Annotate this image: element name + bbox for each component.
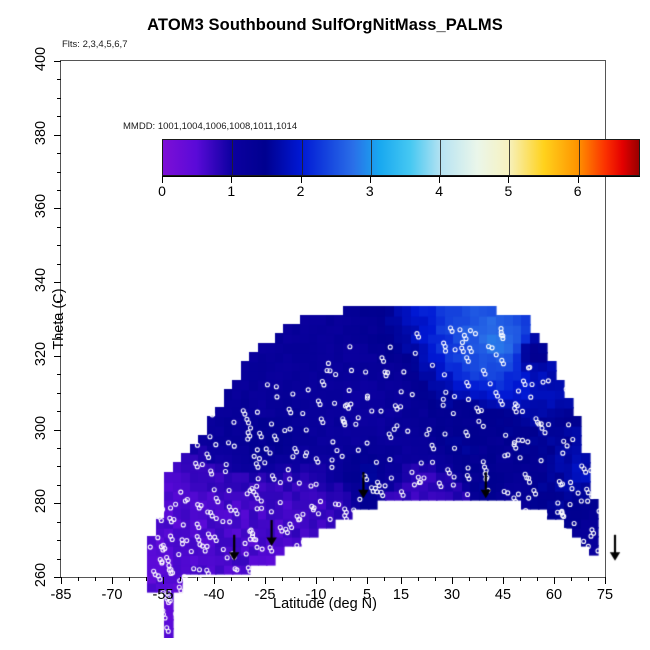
- x-axis-title: Latitude (deg N): [0, 596, 650, 612]
- colorbar-tick: [301, 176, 302, 183]
- x-axis-tick-minor: [248, 577, 249, 581]
- colorbar-separators: [163, 140, 641, 177]
- y-axis-tick-minor: [57, 301, 61, 302]
- x-axis-tick-major: [214, 577, 215, 584]
- y-axis-tick-label: 260: [33, 561, 49, 589]
- x-axis-tick-minor: [299, 577, 300, 581]
- y-axis-tick-major: [54, 208, 61, 209]
- y-axis-tick-minor: [57, 448, 61, 449]
- y-axis-tick-minor: [57, 540, 61, 541]
- x-axis-tick-major: [61, 577, 62, 584]
- y-axis-tick-minor: [57, 116, 61, 117]
- x-axis-tick-major: [554, 577, 555, 584]
- colorbar-separator: [302, 140, 303, 177]
- colorbar-tick: [231, 176, 232, 183]
- x-axis-tick-major: [316, 577, 317, 584]
- y-axis-tick-label: 380: [33, 119, 49, 147]
- y-axis-tick-label: 400: [33, 45, 49, 73]
- y-axis-tick-major: [54, 61, 61, 62]
- x-axis-tick-major: [503, 577, 504, 584]
- y-axis-tick-minor: [57, 522, 61, 523]
- mmdd-annotation: MMDD: 1001,1004,1006,1008,1011,1014: [123, 121, 297, 132]
- x-axis-tick-minor: [282, 577, 283, 581]
- x-axis-tick-minor: [384, 577, 385, 581]
- figure-root: ATOM3 Southbound SulfOrgNitMass_PALMS Fl…: [0, 0, 650, 650]
- y-axis-tick-major: [54, 430, 61, 431]
- colorbar-tick-label: 4: [435, 183, 443, 199]
- y-axis-tick-minor: [57, 374, 61, 375]
- y-axis-tick-minor: [57, 190, 61, 191]
- x-axis-tick-major: [265, 577, 266, 584]
- y-axis-tick-label: 320: [33, 340, 49, 368]
- x-axis-tick-minor: [95, 577, 96, 581]
- y-axis-tick-minor: [57, 98, 61, 99]
- colorbar-tick-label: 6: [574, 183, 582, 199]
- colorbar-tick-label: 3: [366, 183, 374, 199]
- y-axis-tick-minor: [57, 411, 61, 412]
- y-axis-tick-minor: [57, 466, 61, 467]
- x-axis-tick-major: [605, 577, 606, 584]
- colorbar-separator: [232, 140, 233, 177]
- y-axis-tick-minor: [57, 393, 61, 394]
- x-axis-tick-major: [367, 577, 368, 584]
- colorbar-tick: [508, 176, 509, 183]
- x-axis-tick-major: [452, 577, 453, 584]
- y-axis-tick-minor: [57, 319, 61, 320]
- figure-title: ATOM3 Southbound SulfOrgNitMass_PALMS: [0, 16, 650, 35]
- y-axis-tick-minor: [57, 337, 61, 338]
- colorbar-tick-label: 1: [227, 183, 235, 199]
- x-axis-tick-major: [112, 577, 113, 584]
- colorbar-tick: [370, 176, 371, 183]
- y-axis-tick-minor: [57, 485, 61, 486]
- colorbar-tick: [162, 176, 163, 183]
- x-axis-tick-minor: [350, 577, 351, 581]
- y-axis-tick-minor: [57, 559, 61, 560]
- plot-frame: MMDD: 1001,1004,1006,1008,1011,1014 0123…: [60, 60, 606, 578]
- y-axis-tick-minor: [57, 227, 61, 228]
- colorbar-group: 0123456: [162, 139, 640, 201]
- x-axis-tick-minor: [469, 577, 470, 581]
- flights-annotation: Flts: 2,3,4,5,6,7: [62, 39, 127, 50]
- y-axis-tick-label: 300: [33, 414, 49, 442]
- colorbar-tick-label: 5: [504, 183, 512, 199]
- y-axis-tick-major: [54, 356, 61, 357]
- y-axis-tick-minor: [57, 79, 61, 80]
- x-axis-tick-minor: [418, 577, 419, 581]
- y-axis-tick-label: 340: [33, 266, 49, 294]
- colorbar-separator: [371, 140, 372, 177]
- colorbar-tick: [578, 176, 579, 183]
- x-axis-tick-minor: [435, 577, 436, 581]
- y-axis-tick-major: [54, 282, 61, 283]
- y-axis-tick-minor: [57, 245, 61, 246]
- y-axis-tick-major: [54, 135, 61, 136]
- colorbar-separator: [440, 140, 441, 177]
- x-axis-tick-minor: [146, 577, 147, 581]
- y-axis-tick-label: 360: [33, 192, 49, 220]
- y-axis-tick-minor: [57, 264, 61, 265]
- x-axis-tick-minor: [520, 577, 521, 581]
- x-axis-tick-minor: [571, 577, 572, 581]
- x-axis-tick-minor: [197, 577, 198, 581]
- x-axis-tick-minor: [588, 577, 589, 581]
- colorbar-tick-label: 2: [297, 183, 305, 199]
- colorbar-separator: [509, 140, 510, 177]
- y-axis-tick-major: [54, 503, 61, 504]
- x-axis-tick-minor: [78, 577, 79, 581]
- colorbar-tick-label: 0: [158, 183, 166, 199]
- x-axis-tick-minor: [180, 577, 181, 581]
- x-axis-tick-major: [163, 577, 164, 584]
- y-axis-tick-minor: [57, 172, 61, 173]
- colorbar-tick: [439, 176, 440, 183]
- y-axis-tick-minor: [57, 153, 61, 154]
- colorbar-gradient: [162, 139, 640, 176]
- x-axis-tick-major: [401, 577, 402, 584]
- x-axis-tick-minor: [537, 577, 538, 581]
- x-axis-tick-minor: [129, 577, 130, 581]
- x-axis-tick-minor: [231, 577, 232, 581]
- y-axis-tick-major: [54, 577, 61, 578]
- y-axis-tick-label: 280: [33, 487, 49, 515]
- colorbar-separator: [579, 140, 580, 177]
- x-axis-tick-minor: [486, 577, 487, 581]
- x-axis-tick-minor: [333, 577, 334, 581]
